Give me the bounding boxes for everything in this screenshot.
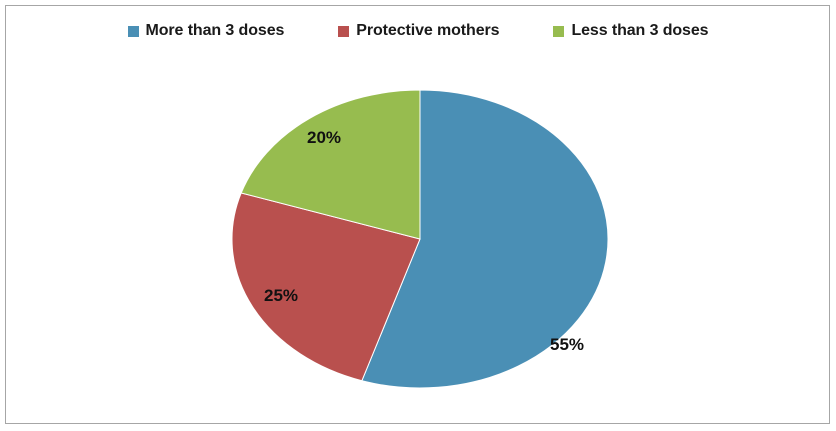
pie-label-protective-mothers: 25% [264, 286, 298, 306]
legend-label-more-than-3-doses: More than 3 doses [146, 22, 285, 40]
chart-legend: More than 3 doses Protective mothers Les… [0, 22, 836, 40]
pie-label-more-than-3-doses: 55% [550, 335, 584, 355]
legend-swatch-blue-icon [128, 26, 139, 37]
legend-item-more-than-3-doses[interactable]: More than 3 doses [128, 22, 285, 40]
pie-chart-figure: More than 3 doses Protective mothers Les… [0, 0, 836, 431]
legend-swatch-red-icon [338, 26, 349, 37]
pie-label-less-than-3-doses: 20% [307, 128, 341, 148]
legend-label-protective-mothers: Protective mothers [356, 22, 499, 40]
legend-swatch-green-icon [553, 26, 564, 37]
legend-item-less-than-3-doses[interactable]: Less than 3 doses [553, 22, 708, 40]
pie-plot-area: 55% 25% 20% [232, 90, 608, 388]
legend-item-protective-mothers[interactable]: Protective mothers [338, 22, 499, 40]
legend-label-less-than-3-doses: Less than 3 doses [571, 22, 708, 40]
